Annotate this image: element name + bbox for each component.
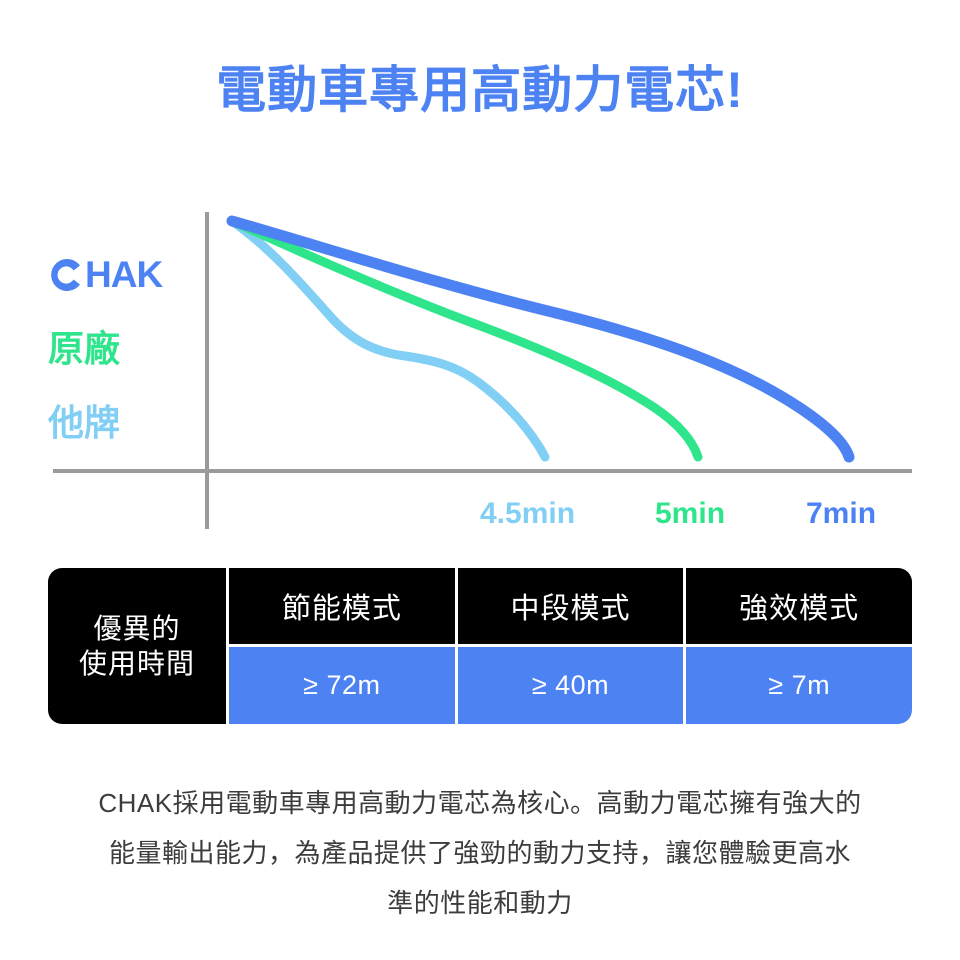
spec-head-eco: 節能模式 [229, 568, 455, 644]
spec-head-mid: 中段模式 [458, 568, 684, 644]
table-columns: 節能模式 ≥ 72m 中段模式 ≥ 40m 強效模式 ≥ 7m [229, 568, 912, 724]
chak-c-mark-icon [48, 257, 84, 293]
table-row-header: 優異的 使用時間 [48, 568, 226, 724]
legend-label-other: 他牌 [48, 405, 120, 441]
chak-wordmark-text: HAK [85, 254, 162, 296]
spec-value-power: ≥ 7m [686, 647, 912, 724]
description-paragraph: CHAK採用電動車專用高動力電芯為核心。高動力電芯擁有強大的 能量輸出能力，為產… [40, 778, 920, 929]
description-line-2: 能量輸出能力，為產品提供了強勁的動力支持，讓您體驗更高水 [40, 828, 920, 878]
legend-label-oem: 原廠 [48, 331, 120, 367]
row-header-line-1: 優異的 [93, 611, 180, 646]
x-tick-label-other: 4.5min [480, 497, 575, 531]
chart-legend: HAK 原廠 他牌 [48, 238, 198, 460]
legend-item-oem: 原廠 [48, 312, 198, 386]
description-line-1: CHAK採用電動車專用高動力電芯為核心。高動力電芯擁有強大的 [40, 778, 920, 828]
curve-other-brand [232, 221, 545, 457]
legend-item-other: 他牌 [48, 386, 198, 460]
curve-chak [232, 221, 849, 457]
x-tick-label-chak: 7min [806, 497, 876, 531]
row-header-line-2: 使用時間 [79, 646, 195, 681]
spec-column-power: 強效模式 ≥ 7m [686, 568, 912, 724]
curve-oem [232, 221, 698, 457]
spec-column-eco: 節能模式 ≥ 72m [229, 568, 455, 724]
legend-item-chak: HAK [48, 238, 198, 312]
spec-head-power: 強效模式 [686, 568, 912, 644]
chak-logo: HAK [48, 254, 162, 296]
spec-value-mid: ≥ 40m [458, 647, 684, 724]
battery-discharge-chart: HAK 原廠 他牌 4.5min 5min 7min [0, 0, 960, 560]
description-line-3: 準的性能和動力 [40, 878, 920, 928]
x-tick-label-oem: 5min [655, 497, 725, 531]
spec-table: 優異的 使用時間 節能模式 ≥ 72m 中段模式 ≥ 40m 強效模式 ≥ 7m [48, 568, 912, 724]
spec-value-eco: ≥ 72m [229, 647, 455, 724]
spec-column-mid: 中段模式 ≥ 40m [458, 568, 684, 724]
